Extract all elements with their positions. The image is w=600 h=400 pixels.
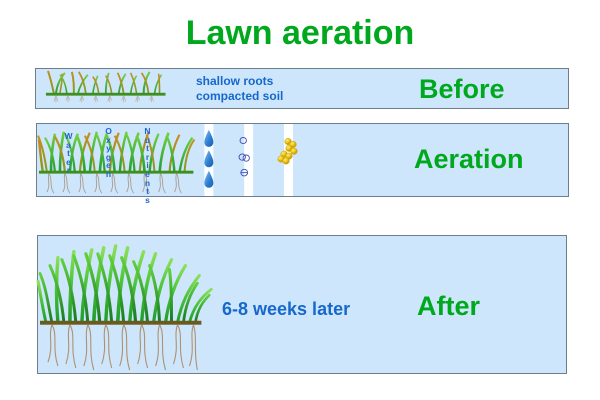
root-system [47, 174, 181, 193]
panel-after: 6-8 weeks later After [37, 235, 567, 374]
lush-grass-blades [38, 246, 211, 323]
aeration-hole-3 [284, 124, 293, 196]
before-note-1: shallow roots [196, 74, 283, 89]
flow-label-oxygen-text: Oxygen [103, 127, 114, 179]
flow-label-oxygen: Oxygen [103, 127, 114, 179]
flow-label-water: Water [63, 132, 74, 175]
before-note-2: compacted soil [196, 89, 283, 104]
after-note: 6-8 weeks later [222, 298, 350, 320]
water-droplet-icon-group [204, 130, 213, 188]
aeration-label: Aeration [414, 144, 524, 175]
vertical-letter: r [63, 166, 74, 175]
before-label: Before [419, 74, 505, 105]
aeration-hole-2 [244, 124, 253, 196]
lawn-aeration-infographic: Lawn aeration [0, 0, 600, 400]
flow-label-water-text: Water [63, 132, 74, 175]
shallow-roots [54, 96, 154, 103]
before-notes: shallow roots compacted soil [196, 74, 283, 104]
vertical-letter: n [103, 170, 114, 179]
flow-label-nutrients-text: Nutrients [142, 127, 153, 204]
soil-line [46, 93, 166, 96]
soil-line [40, 321, 201, 325]
dense-grass-blades [38, 132, 194, 173]
panel-aeration: Water Oxygen Nutrients Aeration [36, 123, 569, 197]
nutrient-granule-icon-group [278, 138, 298, 164]
page-title: Lawn aeration [0, 14, 600, 53]
flow-label-nutrients: Nutrients [142, 127, 153, 204]
sparse-grass-blades [48, 71, 162, 94]
after-label: After [417, 291, 480, 322]
panel-before: shallow roots compacted soil Before [35, 68, 569, 109]
deep-root-system [48, 325, 197, 370]
vertical-letter: s [142, 196, 153, 205]
oxygen-molecule-icon-group [239, 137, 249, 176]
aeration-hole-1 [204, 124, 213, 196]
